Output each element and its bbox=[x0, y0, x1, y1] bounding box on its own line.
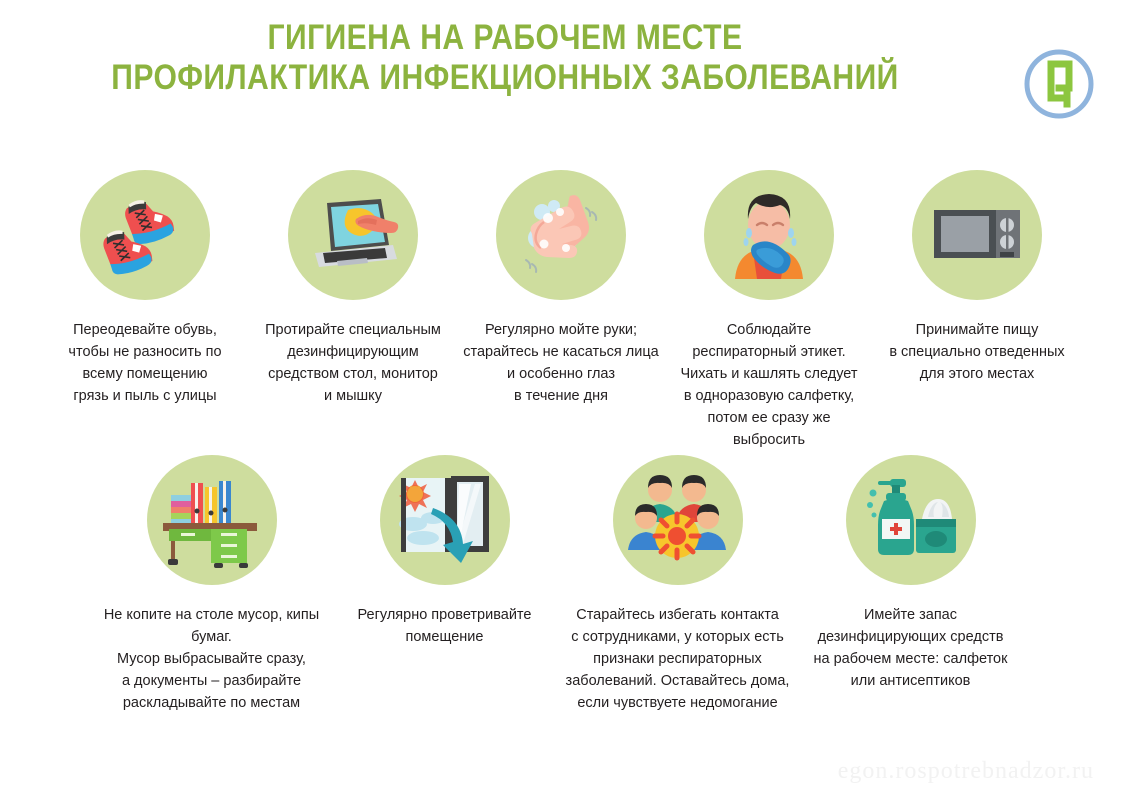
tip-caption: Имейте запас дезинфицирующих средств на … bbox=[799, 604, 1023, 692]
icon-circle bbox=[80, 170, 210, 300]
icon-circle bbox=[288, 170, 418, 300]
tip-caption: Не копите на столе мусор, кипы бумаг. Му… bbox=[100, 604, 324, 714]
tip-card-sanitizer: Имейте запас дезинфицирующих средств на … bbox=[794, 455, 1027, 714]
tip-caption: Соблюдайте респираторный этикет. Чихать … bbox=[671, 319, 867, 451]
icon-circle bbox=[496, 170, 626, 300]
tip-caption: Протирайте специальным дезинфицирующим с… bbox=[255, 319, 451, 407]
hand-washing-icon bbox=[508, 182, 614, 288]
icon-circle bbox=[912, 170, 1042, 300]
title-line-1: ГИГИЕНА НА РАБОЧЕМ МЕСТЕ bbox=[71, 18, 940, 58]
sneezing-person-icon bbox=[713, 179, 825, 291]
group-of-people-virus-icon bbox=[624, 466, 732, 574]
title-line-2: ПРОФИЛАКТИКА ИНФЕКЦИОННЫХ ЗАБОЛЕВАНИЙ bbox=[71, 58, 940, 98]
tip-caption: Принимайте пищу в специально отведенных … bbox=[879, 319, 1075, 385]
laptop-wipe-icon bbox=[301, 183, 405, 287]
sanitizer-and-tissues-icon bbox=[858, 467, 964, 573]
tip-card-airing: Регулярно проветривайте помещение bbox=[328, 455, 561, 714]
tip-card-desk: Не копите на столе мусор, кипы бумаг. Му… bbox=[95, 455, 328, 714]
tip-card-microwave: Принимайте пищу в специально отведенных … bbox=[873, 170, 1081, 451]
tips-row-1: Переодевайте обувь, чтобы не разносить п… bbox=[0, 170, 1122, 451]
tip-card-hand-washing: Регулярно мойте руки; старайтесь не каса… bbox=[457, 170, 665, 451]
open-window-airing-icon bbox=[393, 468, 497, 572]
page-title: ГИГИЕНА НА РАБОЧЕМ МЕСТЕ ПРОФИЛАКТИКА ИН… bbox=[0, 18, 1010, 99]
icon-circle bbox=[704, 170, 834, 300]
icon-circle bbox=[846, 455, 976, 585]
sneakers-icon bbox=[92, 182, 198, 288]
tip-card-sneakers: Переодевайте обувь, чтобы не разносить п… bbox=[41, 170, 249, 451]
icon-circle bbox=[613, 455, 743, 585]
tip-card-sneezing-person: Соблюдайте респираторный этикет. Чихать … bbox=[665, 170, 873, 451]
watermark: egon.rospotrebnadzor.ru bbox=[838, 758, 1094, 785]
icon-circle bbox=[147, 455, 277, 585]
desk-with-folders-icon bbox=[159, 467, 265, 573]
microwave-icon bbox=[926, 184, 1028, 286]
tip-card-laptop-wipe: Протирайте специальным дезинфицирующим с… bbox=[249, 170, 457, 451]
page-header: ГИГИЕНА НА РАБОЧЕМ МЕСТЕ ПРОФИЛАКТИКА ИН… bbox=[0, 18, 1122, 118]
tip-caption: Регулярно мойте руки; старайтесь не каса… bbox=[463, 319, 659, 407]
tip-caption: Переодевайте обувь, чтобы не разносить п… bbox=[47, 319, 243, 407]
rospotrebnadzor-logo bbox=[1023, 48, 1095, 120]
tips-row-2: Не копите на столе мусор, кипы бумаг. Му… bbox=[0, 455, 1122, 714]
icon-circle bbox=[380, 455, 510, 585]
tip-card-avoid-contact: Старайтесь избегать контакта с сотрудник… bbox=[561, 455, 794, 714]
tip-caption: Регулярно проветривайте помещение bbox=[333, 604, 557, 648]
tip-caption: Старайтесь избегать контакта с сотрудник… bbox=[566, 604, 790, 714]
